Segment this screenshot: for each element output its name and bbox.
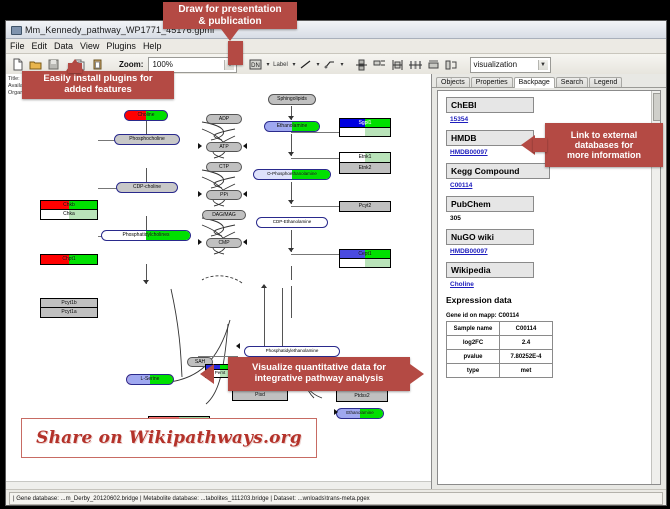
db-link-chebi[interactable]: 15354 bbox=[450, 116, 648, 123]
node-ctp[interactable]: CTP bbox=[206, 162, 242, 172]
arrow-pisd-ptdeth bbox=[261, 284, 267, 288]
gene-pemt-label: Pemt bbox=[215, 371, 226, 376]
node-l-serine-left[interactable]: L-Serine bbox=[126, 374, 174, 385]
ungroup-icon[interactable] bbox=[444, 57, 460, 73]
arrow-ppi bbox=[243, 191, 247, 197]
gene-chka-label: Chka bbox=[63, 212, 75, 217]
node-atp-label: ATP bbox=[219, 145, 228, 150]
pathvisio-icon bbox=[10, 24, 21, 35]
line-dropdown-icon[interactable]: ▾ bbox=[316, 61, 319, 68]
arrow-ptdcholines bbox=[143, 280, 149, 284]
db-link-wikipedia[interactable]: Choline bbox=[450, 281, 648, 288]
tab-search[interactable]: Search bbox=[556, 77, 588, 87]
gene-sgpl1-label: Sgpl1 bbox=[359, 121, 372, 126]
node-phosphatidylethanolamine-label: Phosphatidylethanolamine bbox=[266, 349, 319, 354]
callout-draw-stem bbox=[228, 41, 243, 65]
menu-bar: File Edit Data View Plugins Help bbox=[6, 39, 666, 54]
menu-item-data[interactable]: Data bbox=[54, 41, 73, 51]
visualization-chevron-down-icon[interactable]: ▼ bbox=[538, 60, 548, 70]
expr-key-pvalue: pvalue bbox=[447, 350, 500, 364]
node-dag-mag[interactable]: DAG/MAG bbox=[202, 210, 246, 220]
node-phosphatidylcholines[interactable]: Phosphatidylcholines bbox=[101, 230, 191, 241]
edge-etnk-reaction bbox=[291, 158, 339, 159]
node-o-phosphoethanolamine[interactable]: O-Phosphoethanolamine bbox=[253, 169, 331, 180]
visualization-combo[interactable]: visualization ▼ bbox=[470, 57, 551, 73]
expr-key-sample-name: Sample name bbox=[447, 322, 500, 336]
group-icon[interactable] bbox=[426, 57, 442, 73]
gene-chpt1-label: Chpt1 bbox=[62, 257, 75, 262]
menu-item-file[interactable]: File bbox=[10, 41, 25, 51]
gene-pcyt1a-label: Pcyt1a bbox=[61, 310, 76, 315]
gene-box-etnk1[interactable]: Etnk1 bbox=[339, 152, 391, 163]
gene-box-cept1[interactable]: Cept1 bbox=[339, 249, 391, 259]
callout-plugins: Easily install plugins for added feature… bbox=[22, 71, 174, 99]
title-bar: Mm_Kennedy_pathway_WP1771_45176.gpml bbox=[6, 21, 666, 39]
node-ethanolamine-top[interactable]: Ethanolamine bbox=[264, 121, 320, 132]
align-icon[interactable] bbox=[354, 57, 370, 73]
callout-share-box: Share on Wikipathways.org bbox=[21, 418, 317, 458]
db-header-nugo: NuGO wiki bbox=[446, 229, 534, 245]
backpage-scrollbar-thumb[interactable] bbox=[653, 93, 661, 121]
node-choline-top[interactable]: Choline bbox=[124, 110, 168, 121]
table-row: type met bbox=[447, 364, 553, 378]
arrow-cmp-right bbox=[198, 239, 202, 245]
db-header-chebi: ChEBI bbox=[446, 97, 534, 113]
gene-box-chkb[interactable]: Chkb bbox=[40, 200, 98, 210]
callout-draw-pointer-icon bbox=[221, 29, 239, 41]
callout-draw: Draw for presentation & publication bbox=[163, 2, 297, 29]
edge-cept1-reaction bbox=[291, 254, 339, 255]
node-ethanolamine-right-label: Ethanolamine bbox=[346, 411, 374, 416]
node-sphingolipids[interactable]: Sphingolipids bbox=[268, 94, 316, 105]
edge-ptdeth-bottom bbox=[291, 286, 292, 318]
gene-ptdss2-label: Ptdss2 bbox=[354, 394, 369, 399]
db-header-kegg: Kegg Compound bbox=[446, 163, 550, 179]
sidebar-tabs: Objects Properties Backpage Search Legen… bbox=[432, 74, 666, 88]
zoom-label: Zoom: bbox=[119, 60, 143, 69]
label-dropdown-icon[interactable]: ▾ bbox=[292, 61, 295, 68]
order-icon[interactable] bbox=[372, 57, 388, 73]
tab-properties[interactable]: Properties bbox=[471, 77, 513, 87]
db-header-pubchem: PubChem bbox=[446, 196, 534, 212]
line-tool-icon[interactable] bbox=[297, 57, 313, 73]
node-l-serine-left-label: L-Serine bbox=[141, 377, 160, 382]
gene-box-cept1-lower[interactable] bbox=[339, 259, 391, 268]
node-phosphatidylethanolamine[interactable]: Phosphatidylethanolamine bbox=[244, 346, 340, 357]
node-ethanolamine-top-label: Ethanolamine bbox=[277, 124, 308, 129]
canvas-hscrollbar[interactable] bbox=[6, 481, 431, 489]
node-sphingolipids-label: Sphingolipids bbox=[277, 97, 307, 102]
screenshot-root: Mm_Kennedy_pathway_WP1771_45176.gpml Fil… bbox=[0, 0, 670, 509]
node-cdp-choline[interactable]: CDP-choline bbox=[116, 182, 178, 193]
node-o-phosphoethanolamine-label: O-Phosphoethanolamine bbox=[267, 172, 317, 177]
svg-text:DN: DN bbox=[251, 63, 260, 69]
gene-box-sgpl1-lower[interactable] bbox=[339, 128, 391, 137]
node-cmp[interactable]: CMP bbox=[206, 238, 242, 248]
edge-pcyt2-reaction bbox=[291, 206, 339, 207]
gene-box-sgpl1[interactable]: Sgpl1 bbox=[339, 118, 391, 128]
arrow-ophospho-cdpeth bbox=[288, 200, 294, 204]
node-ppi-label: PPi bbox=[220, 193, 228, 198]
edge-ptdeth-top bbox=[291, 266, 292, 280]
label-tool-text: Label bbox=[273, 62, 288, 68]
expr-value-sample-name: C00114 bbox=[500, 322, 553, 336]
gene-etnk1-label: Etnk1 bbox=[359, 155, 372, 160]
callout-plugins-stem bbox=[68, 63, 82, 73]
node-ctp-label: CTP bbox=[219, 165, 229, 170]
menu-item-help[interactable]: Help bbox=[143, 41, 162, 51]
table-row: pvalue 7.80252E-4 bbox=[447, 350, 553, 364]
db-link-kegg[interactable]: C00114 bbox=[450, 182, 648, 189]
expression-data-heading: Expression data bbox=[446, 295, 648, 305]
menu-item-edit[interactable]: Edit bbox=[32, 41, 48, 51]
zoom-value: 100% bbox=[152, 60, 172, 69]
edge-pisd-ptdeth bbox=[264, 288, 265, 354]
callout-share-text: Share on Wikipathways.org bbox=[36, 428, 302, 448]
tab-objects[interactable]: Objects bbox=[436, 77, 470, 87]
interaction-tool-icon[interactable] bbox=[321, 57, 337, 73]
gene-box-etnk2[interactable]: Etnk2 bbox=[339, 163, 391, 174]
tab-legend[interactable]: Legend bbox=[589, 77, 622, 87]
callout-visualize: Visualize quantitative data for integrat… bbox=[228, 357, 410, 391]
node-adp[interactable]: ADP bbox=[206, 114, 242, 124]
gene-pcyt2-label: Pcyt2 bbox=[359, 204, 372, 209]
node-cdp-ethanolamine-label: CDP-Ethanolamine bbox=[273, 220, 312, 225]
gene-box-pcyt1a[interactable]: Pcyt1a bbox=[40, 308, 98, 318]
gene-box-pcyt1b[interactable]: Pcyt1b bbox=[40, 298, 98, 308]
node-atp[interactable]: ATP bbox=[206, 142, 242, 152]
callout-visualize-pointer-left-icon bbox=[200, 364, 214, 384]
gene-box-pcyt2[interactable]: Pcyt2 bbox=[339, 201, 391, 212]
arrow-cmp bbox=[243, 239, 247, 245]
node-cmp-label: CMP bbox=[218, 241, 229, 246]
db-header-wikipedia: Wikipedia bbox=[446, 262, 534, 278]
node-cdp-ethanolamine[interactable]: CDP-Ethanolamine bbox=[256, 217, 328, 228]
status-bar: | Gene database: ...m_Derby_20120602.bri… bbox=[6, 489, 666, 505]
table-row: Sample name C00114 bbox=[447, 322, 553, 336]
node-phosphocholine-label: Phosphocholine bbox=[129, 137, 165, 142]
expression-table: Sample name C00114 log2FC 2.4 pvalue 7.8… bbox=[446, 321, 553, 378]
gene-etnk2-label: Etnk2 bbox=[359, 166, 372, 171]
gene-box-chpt1[interactable]: Chpt1 bbox=[40, 254, 98, 265]
expr-key-log2fc: log2FC bbox=[447, 336, 500, 350]
interaction-dropdown-icon[interactable]: ▾ bbox=[340, 61, 343, 68]
node-ethanolamine-right[interactable]: Ethanolamine bbox=[336, 408, 384, 419]
edge-sgpl1-reaction bbox=[291, 132, 339, 133]
expr-key-type: type bbox=[447, 364, 500, 378]
arrow-pemt-ptdcholine bbox=[236, 343, 240, 349]
status-text: | Gene database: ...m_Derby_20120602.bri… bbox=[9, 492, 663, 505]
gene-id-on-mapp: Gene id on mapp: C00114 bbox=[446, 313, 648, 319]
node-choline-top-label: Choline bbox=[138, 113, 155, 118]
db-link-nugo[interactable]: HMDB00097 bbox=[450, 248, 648, 255]
callout-visualize-pointer-right-icon bbox=[410, 364, 424, 384]
arrow-sphingolipids-ethanolamine bbox=[288, 116, 294, 120]
menu-item-view[interactable]: View bbox=[80, 41, 99, 51]
gene-box-chka[interactable]: Chka bbox=[40, 210, 98, 220]
expr-value-type: met bbox=[500, 364, 553, 378]
gene-chkb-label: Chkb bbox=[63, 203, 75, 208]
node-ppi[interactable]: PPi bbox=[206, 190, 242, 200]
distribute-icon[interactable] bbox=[408, 57, 424, 73]
node-adp-label: ADP bbox=[219, 117, 229, 122]
node-cdp-choline-label: CDP-choline bbox=[133, 185, 161, 190]
expr-value-pvalue: 7.80252E-4 bbox=[500, 350, 553, 364]
label-tool-icon[interactable]: Label bbox=[271, 57, 289, 73]
arrow-atp bbox=[243, 143, 247, 149]
gene-box-ptdss2[interactable]: Ptdss2 bbox=[336, 390, 388, 402]
expr-value-log2fc: 2.4 bbox=[500, 336, 553, 350]
datanode-dropdown-icon[interactable]: ▾ bbox=[266, 61, 269, 68]
node-phosphatidylcholines-label: Phosphatidylcholines bbox=[123, 233, 170, 238]
arrow-ppi-right bbox=[198, 191, 202, 197]
datanode-icon[interactable]: DN bbox=[247, 57, 263, 73]
node-phosphocholine[interactable]: Phosphocholine bbox=[114, 134, 180, 145]
callout-links: Link to external databases for more info… bbox=[545, 123, 663, 167]
visualization-value: visualization bbox=[474, 60, 518, 69]
tab-backpage[interactable]: Backpage bbox=[514, 77, 555, 88]
arrow-cdpeth-ptdeth bbox=[288, 248, 294, 252]
table-row: log2FC 2.4 bbox=[447, 336, 553, 350]
callout-links-stem bbox=[533, 138, 547, 152]
arrow-ethanolamine-right bbox=[334, 409, 338, 415]
stack-icon[interactable] bbox=[390, 57, 406, 73]
menu-item-plugins[interactable]: Plugins bbox=[106, 41, 136, 51]
gene-cept1-label: Cept1 bbox=[358, 252, 371, 257]
gene-pcyt1b-label: Pcyt1b bbox=[61, 301, 76, 306]
node-dag-mag-label: DAG/MAG bbox=[212, 213, 236, 218]
gene-pisd-label: Pisd bbox=[255, 393, 265, 398]
arrow-ethanolamine-ophospho bbox=[288, 152, 294, 156]
arrow-atp-right bbox=[198, 143, 202, 149]
db-value-pubchem: 305 bbox=[450, 215, 648, 222]
